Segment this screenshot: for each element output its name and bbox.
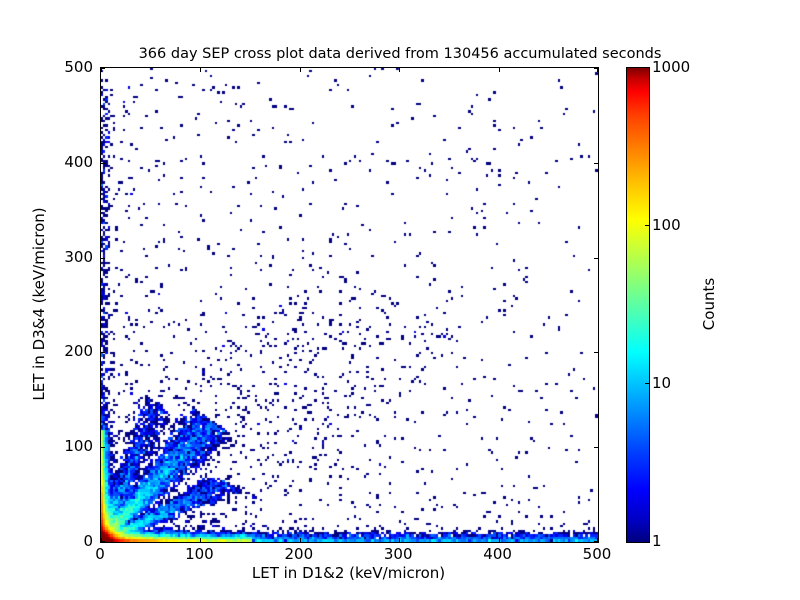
y-axis-label: LET in D3&4 (keV/micron) bbox=[30, 67, 52, 541]
scatter-heatmap bbox=[101, 68, 598, 542]
colorbar-label: Counts bbox=[700, 67, 720, 541]
x-tick-top-100 bbox=[200, 68, 201, 72]
y-tick-label-500: 500 bbox=[64, 58, 93, 76]
x-tick-400 bbox=[499, 538, 500, 542]
y-tick-label-300: 300 bbox=[64, 248, 93, 266]
x-tick-label-200: 200 bbox=[284, 545, 313, 563]
y-tick-300 bbox=[101, 258, 105, 259]
colorbar-gradient bbox=[626, 67, 650, 543]
x-tick-300 bbox=[399, 538, 400, 542]
y-tick-0 bbox=[101, 541, 105, 542]
colorbar-tick-label-100: 100 bbox=[652, 216, 681, 234]
plot-axes bbox=[100, 67, 599, 543]
y-tick-right-100 bbox=[594, 447, 598, 448]
x-tick-label-300: 300 bbox=[384, 545, 413, 563]
y-tick-right-200 bbox=[594, 352, 598, 353]
y-tick-label-200: 200 bbox=[64, 342, 93, 360]
y-tick-right-300 bbox=[594, 258, 598, 259]
y-tick-right-400 bbox=[594, 163, 598, 164]
x-tick-label-400: 400 bbox=[483, 545, 512, 563]
y-tick-400 bbox=[101, 163, 105, 164]
x-tick-100 bbox=[200, 538, 201, 542]
x-tick-label-500: 500 bbox=[583, 545, 612, 563]
x-axis-label: LET in D1&2 (keV/micron) bbox=[100, 564, 597, 582]
colorbar-tick-label-1000: 1000 bbox=[652, 58, 690, 76]
x-tick-top-200 bbox=[300, 68, 301, 72]
colorbar-tick-label-1: 1 bbox=[652, 532, 662, 550]
colorbar-tick-label-10: 10 bbox=[652, 374, 671, 392]
y-tick-200 bbox=[101, 352, 105, 353]
colorbar-tick-100 bbox=[645, 225, 650, 226]
x-tick-top-300 bbox=[399, 68, 400, 72]
figure-canvas: 366 day SEP cross plot data derived from… bbox=[0, 0, 800, 600]
y-tick-right-500 bbox=[594, 68, 598, 69]
x-tick-label-0: 0 bbox=[95, 545, 105, 563]
y-tick-label-0: 0 bbox=[83, 532, 93, 550]
y-tick-100 bbox=[101, 447, 105, 448]
y-tick-500 bbox=[101, 68, 105, 69]
y-tick-label-100: 100 bbox=[64, 437, 93, 455]
y-tick-label-400: 400 bbox=[64, 153, 93, 171]
x-tick-top-400 bbox=[499, 68, 500, 72]
x-tick-200 bbox=[300, 538, 301, 542]
x-tick-label-100: 100 bbox=[185, 545, 214, 563]
colorbar-tick-10 bbox=[645, 383, 650, 384]
y-tick-right-0 bbox=[594, 541, 598, 542]
